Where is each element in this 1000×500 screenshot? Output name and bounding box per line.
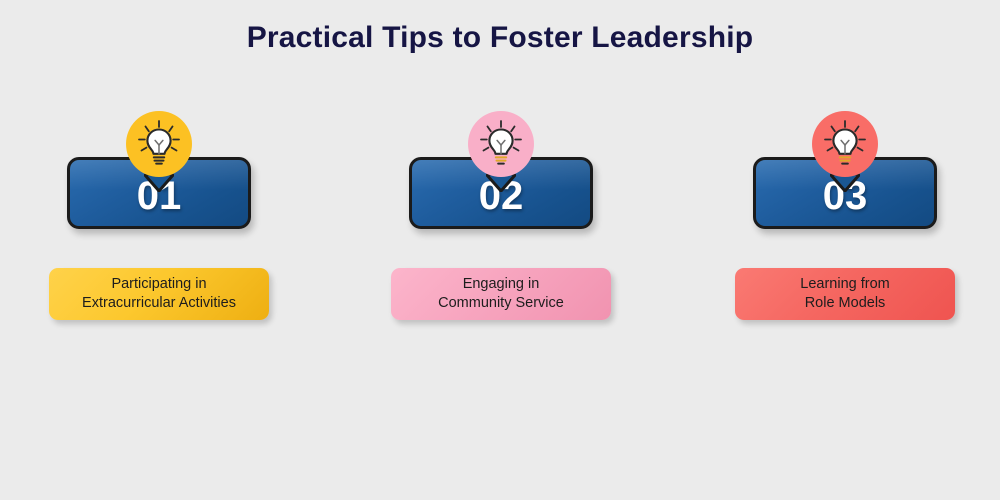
tip-label-2-line1: Engaging in xyxy=(463,276,540,292)
lightbulb-icon-circle-3 xyxy=(812,111,878,177)
lightbulb-icon xyxy=(475,118,527,170)
tip-label-3-line1: Learning from xyxy=(800,276,889,292)
tip-label-2-line2: Community Service xyxy=(438,295,564,311)
tip-label-1: Participating in Extracurricular Activit… xyxy=(49,268,269,320)
lightbulb-icon-circle-1 xyxy=(126,111,192,177)
lightbulb-icon xyxy=(133,118,185,170)
lightbulb-icon xyxy=(819,118,871,170)
tip-label-1-line2: Extracurricular Activities xyxy=(82,295,236,311)
tip-card-2: 02 Engaging in Community Service xyxy=(381,105,621,365)
tip-card-3: 03 Learning from Role Models xyxy=(725,105,965,365)
tip-label-3: Learning from Role Models xyxy=(735,268,955,320)
tip-label-2: Engaging in Community Service xyxy=(391,268,611,320)
lightbulb-icon-circle-2 xyxy=(468,111,534,177)
tips-card-row: 01 Participating in Extracurricular Acti… xyxy=(0,105,1000,365)
tip-label-3-line2: Role Models xyxy=(805,295,886,311)
page-title: Practical Tips to Foster Leadership xyxy=(0,18,1000,58)
tip-label-1-line1: Participating in xyxy=(111,276,206,292)
tip-card-1: 01 Participating in Extracurricular Acti… xyxy=(39,105,279,365)
